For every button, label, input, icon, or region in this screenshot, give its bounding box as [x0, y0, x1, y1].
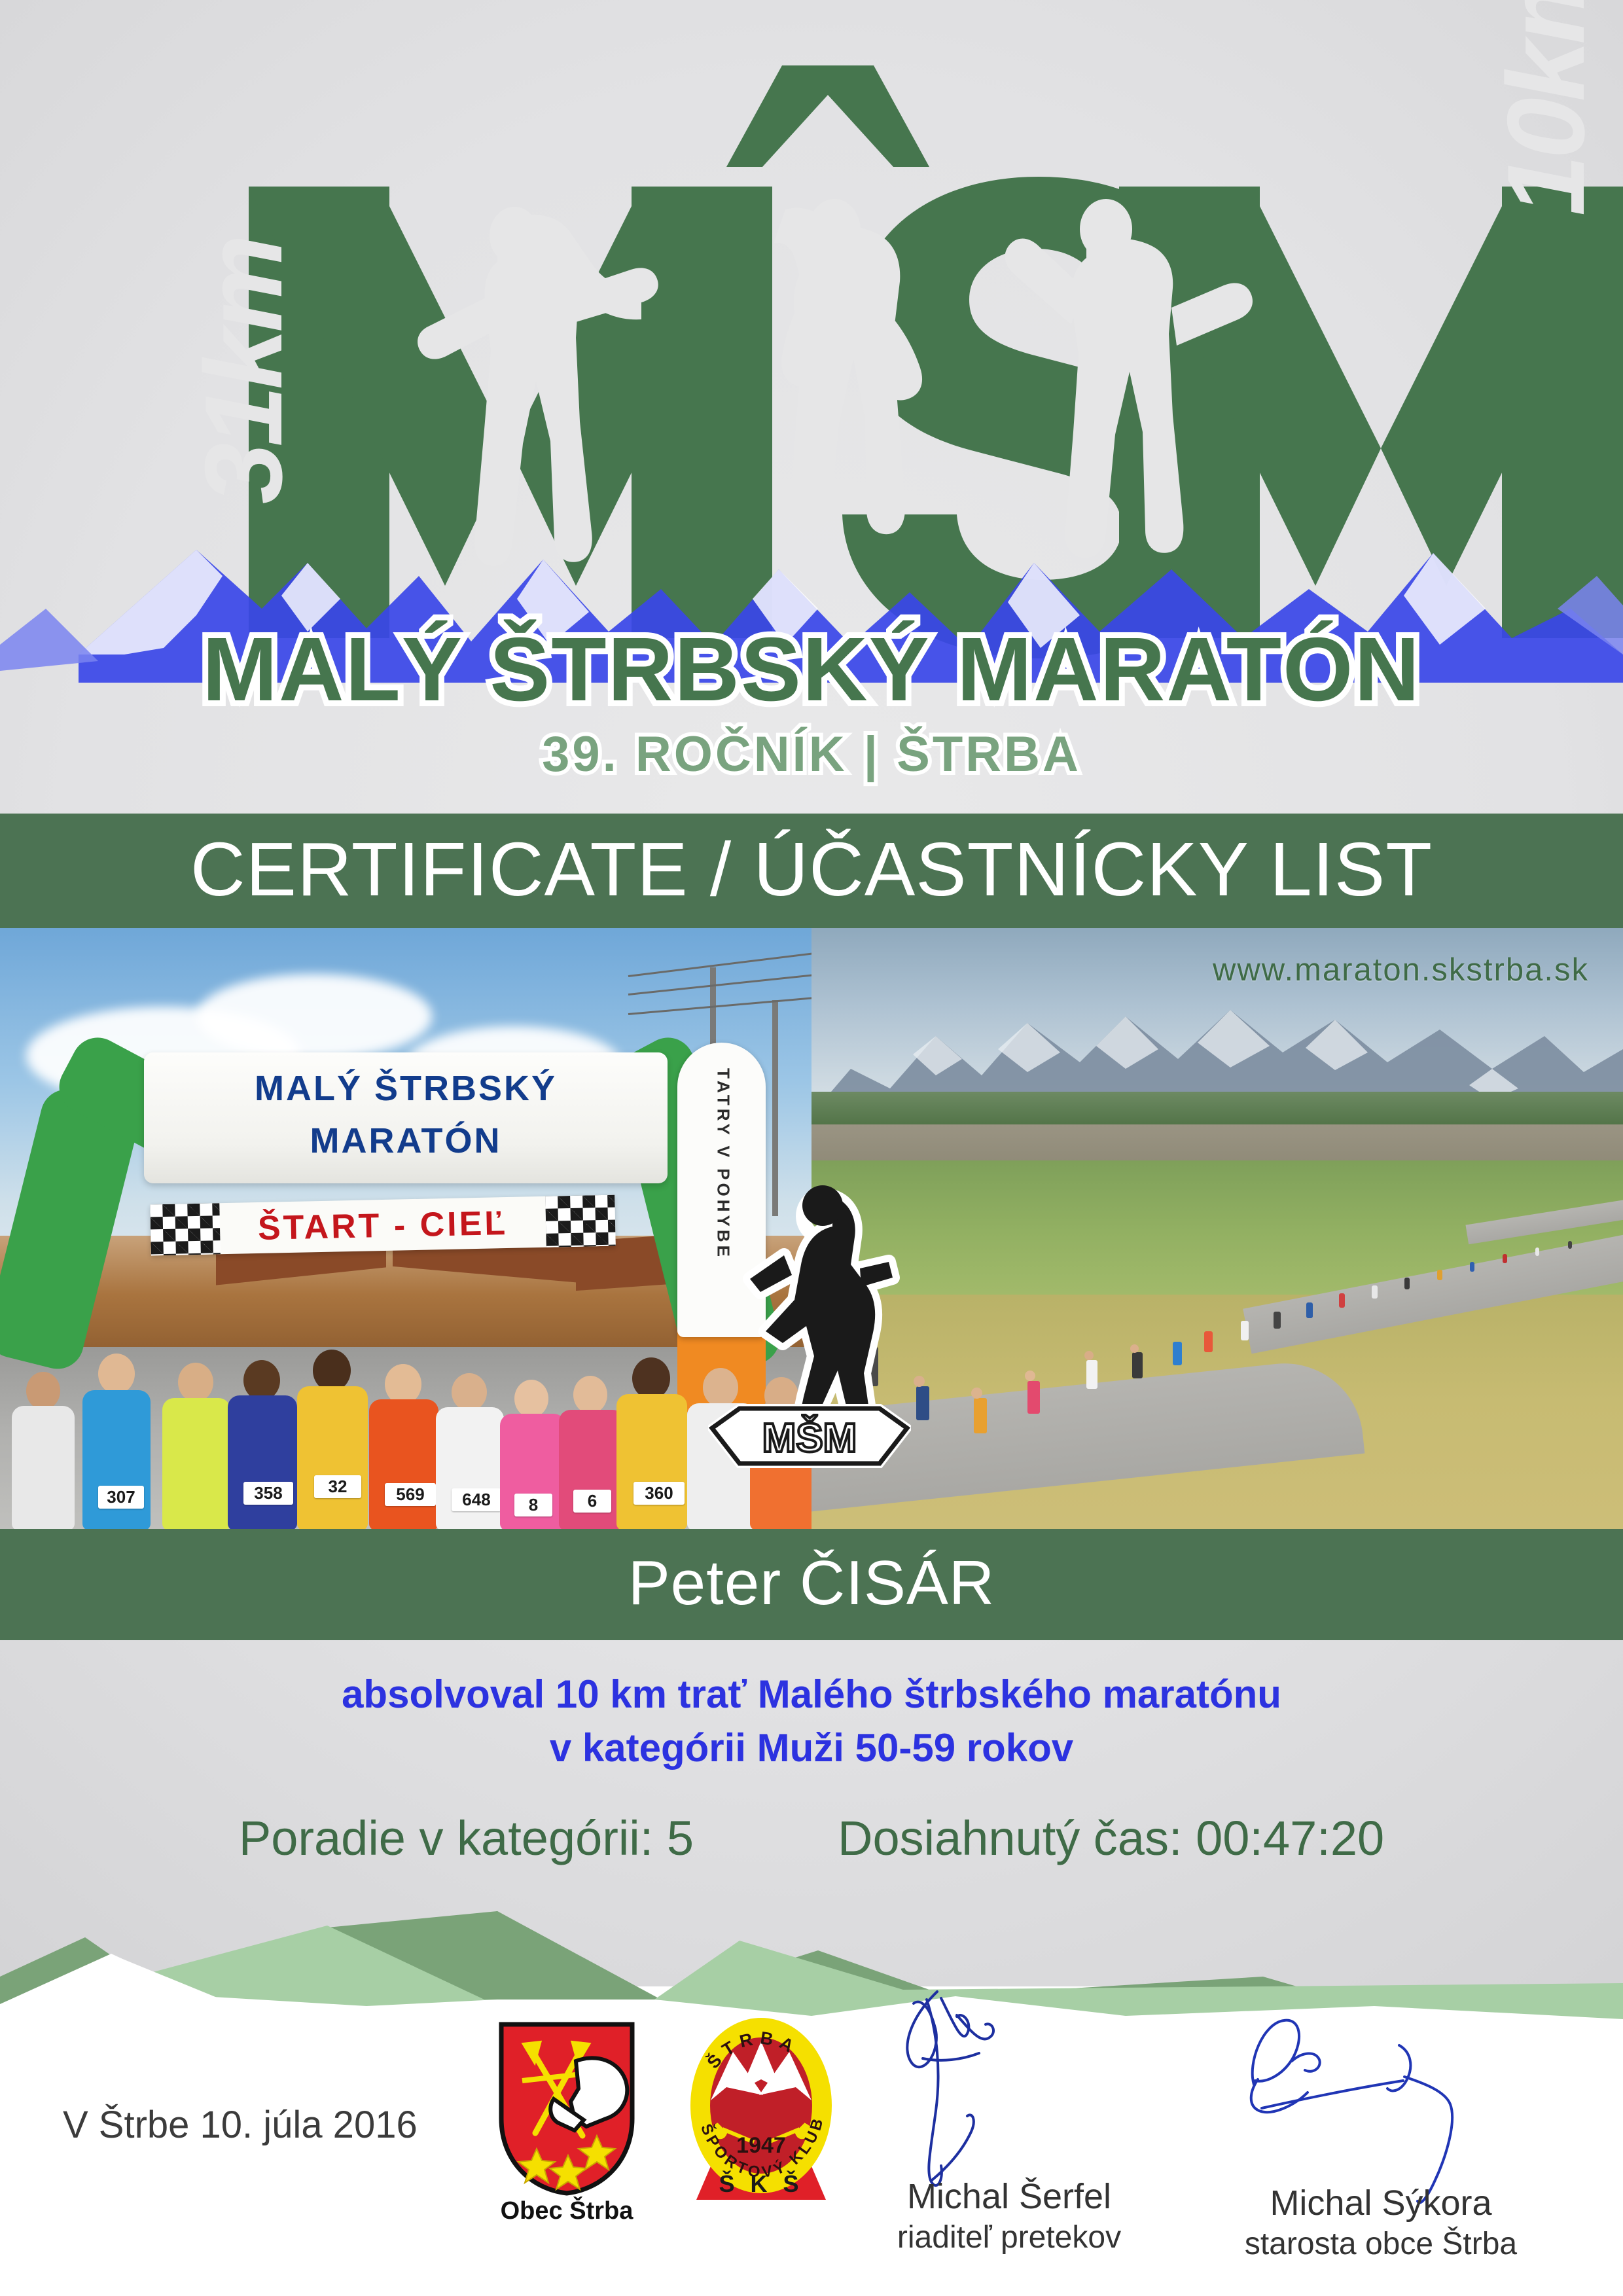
signature-serfel: [864, 1986, 1113, 2202]
sponsor-flag-text: TATRY V POHYBE: [713, 1047, 734, 1282]
time-result: Dosiahnutý čas: 00:47:20: [838, 1810, 1384, 1866]
arch-title-line1: MALÝ ŠTRBSKÝ: [144, 1068, 668, 1109]
body-line-2: v kategórii Muži 50-59 rokov: [0, 1725, 1623, 1770]
sks-strba-crest: 1947 ŠTRBA ŠPORTOVÝ KLUB Š K Š: [686, 2014, 836, 2204]
utility-pole: [772, 1000, 778, 1216]
header-logo-area: 31km: [0, 0, 1623, 814]
msm-logo-svg: 31km: [0, 0, 1623, 814]
msm-logo: 31km: [0, 0, 1623, 814]
obec-strba-crest: [497, 2020, 636, 2197]
arch-title-line2: MARATÓN: [144, 1121, 668, 1161]
bib-number: 648: [452, 1488, 501, 1511]
website-url: www.maraton.skstrba.sk: [1213, 952, 1589, 988]
obec-strba-label: Obec Štrba: [484, 2197, 649, 2225]
rank-result: Poradie v kategórii: 5: [239, 1810, 694, 1866]
body-line-1: absolvoval 10 km trať Malého štrbského m…: [0, 1672, 1623, 1717]
certificate-title-band: CERTIFICATE / ÚČASTNÍCKY LIST: [0, 814, 1623, 928]
athlete-name-band: Peter ČISÁR: [0, 1529, 1623, 1640]
spectator: [864, 1347, 878, 1386]
footer: V Štrbe 10. júla 2016 Obec Štrba: [0, 1986, 1623, 2296]
distance-left-text: 31km: [182, 238, 305, 504]
sks-year: 1947: [736, 2133, 786, 2158]
logo-letter-M-left: 31km: [182, 187, 772, 638]
signer-role: riaditeľ pretekov: [832, 2219, 1186, 2255]
signature-block-1: Michal Šerfel riaditeľ pretekov: [832, 2176, 1186, 2255]
photo-landscape: www.maraton.skstrba.sk: [811, 928, 1623, 1529]
photo-start-line: MALÝ ŠTRBSKÝ MARATÓN ŠTART - CIEĽ TATRY …: [0, 928, 811, 1529]
results-row: Poradie v kategórii: 5 Dosiahnutý čas: 0…: [0, 1810, 1623, 1866]
certificate-page: 31km: [0, 0, 1623, 2296]
bib-number: 307: [98, 1486, 144, 1509]
event-title-sub: 39. ROČNÍK | ŠTRBA: [542, 726, 1081, 783]
bib-number: 569: [385, 1483, 436, 1506]
caron-accent: [726, 65, 929, 167]
bib-number: 6: [573, 1490, 611, 1513]
issue-date: V Štrbe 10. júla 2016: [63, 2103, 418, 2147]
sponsor-flag: TATRY V POHYBE: [677, 1043, 766, 1337]
bib-number: 360: [633, 1482, 685, 1505]
signer-role: starosta obce Štrba: [1198, 2226, 1564, 2262]
signature-block-2: Michal Sýkora starosta obce Štrba: [1198, 2183, 1564, 2262]
arch-banner-top: MALÝ ŠTRBSKÝ MARATÓN: [144, 1052, 668, 1183]
bib-number: 358: [243, 1482, 293, 1505]
athlete-name: Peter ČISÁR: [628, 1547, 995, 1622]
cloud: [196, 974, 432, 1059]
certificate-title: CERTIFICATE / ÚČASTNÍCKY LIST: [190, 831, 1433, 911]
start-finish-banner: ŠTART - CIEĽ: [150, 1195, 615, 1256]
signer-name: Michal Sýkora: [1198, 2183, 1564, 2223]
distance-right-text: 10km: [1484, 0, 1607, 216]
spectator-head: [861, 1335, 874, 1348]
bib-number: 8: [514, 1494, 552, 1516]
event-title-main: MALÝ ŠTRBSKÝ MARATÓN: [202, 619, 1421, 720]
signer-name: Michal Šerfel: [832, 2176, 1186, 2217]
photo-strip: MALÝ ŠTRBSKÝ MARATÓN ŠTART - CIEĽ TATRY …: [0, 928, 1623, 1529]
bib-number: 32: [314, 1475, 361, 1498]
sks-bottom-text: Š K Š: [719, 2170, 803, 2197]
logo-letter-M-right: 10km: [1005, 0, 1623, 638]
